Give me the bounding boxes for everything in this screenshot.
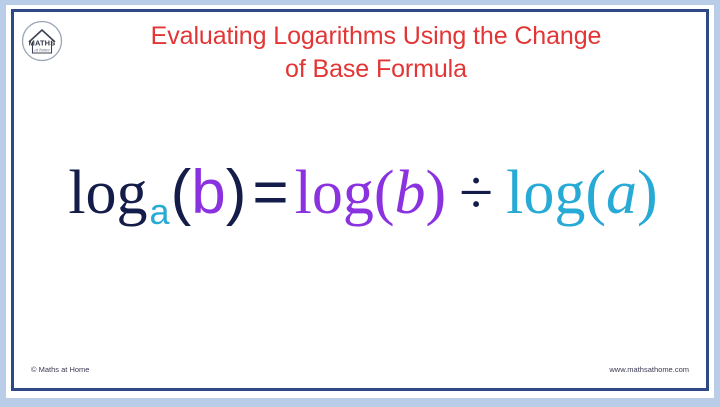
formula-base-subscript-a: a bbox=[148, 191, 171, 232]
formula-argument-b: b bbox=[191, 158, 225, 227]
formula-denominator-a: a bbox=[606, 159, 637, 227]
slide-title-line-1: Evaluating Logarithms Using the Change bbox=[66, 20, 686, 53]
footer-website: www.mathsathome.com bbox=[609, 365, 689, 374]
formula-close-paren-left: ) bbox=[226, 158, 247, 227]
slide-border-frame: MATHS at home Evaluating Logarithms Usin… bbox=[11, 9, 709, 391]
formula-log-denominator: log( bbox=[506, 159, 606, 227]
formula-division-sign: ÷ bbox=[459, 159, 493, 227]
slide-title: Evaluating Logarithms Using the Change o… bbox=[66, 20, 686, 86]
svg-text:MATHS: MATHS bbox=[29, 39, 56, 48]
slide-glow-right bbox=[714, 0, 720, 407]
change-of-base-formula: loga(b)=log(b)÷log(a) bbox=[14, 162, 712, 230]
slide-glow-bottom bbox=[0, 398, 720, 407]
formula-numerator-close-paren: ) bbox=[425, 159, 446, 227]
formula-open-paren-left: ( bbox=[171, 158, 192, 227]
formula-log-numerator: log( bbox=[295, 159, 395, 227]
footer-copyright: © Maths at Home bbox=[31, 365, 89, 374]
svg-text:at home: at home bbox=[34, 49, 50, 54]
slide-title-line-2: of Base Formula bbox=[66, 53, 686, 86]
maths-at-home-logo-icon: MATHS at home bbox=[20, 19, 64, 63]
formula-denominator-close-paren: ) bbox=[637, 159, 658, 227]
formula-equals-sign: = bbox=[252, 158, 288, 227]
slide-gap-bottom bbox=[6, 394, 714, 398]
formula-log-left: log bbox=[68, 159, 147, 227]
slide-canvas: MATHS at home Evaluating Logarithms Usin… bbox=[0, 0, 720, 407]
slide-footer: © Maths at Home www.mathsathome.com bbox=[25, 360, 695, 374]
formula-numerator-b: b bbox=[394, 159, 425, 227]
